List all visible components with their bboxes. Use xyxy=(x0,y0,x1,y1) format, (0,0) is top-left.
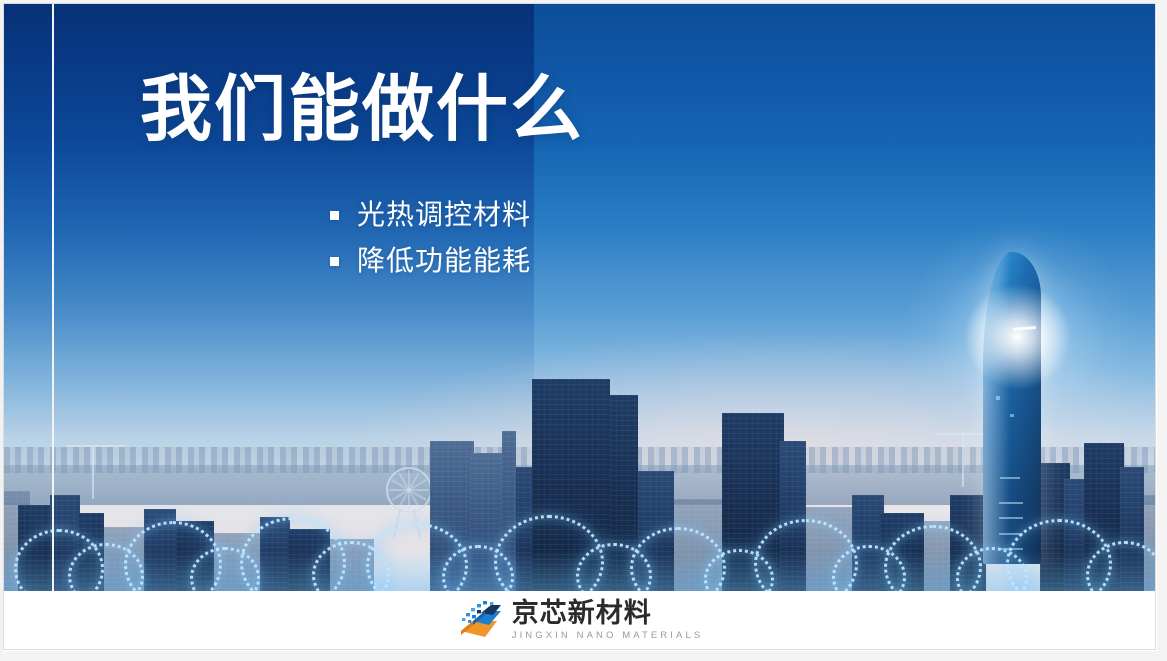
base-glow xyxy=(4,551,1156,591)
logo-name-en: JINGXIN NANO MATERIALS xyxy=(512,631,704,641)
list-item: 光热调控材料 xyxy=(330,192,531,238)
list-item-label: 降低功能能耗 xyxy=(357,238,531,284)
list-item-label: 光热调控材料 xyxy=(357,192,531,238)
curved-skyscraper xyxy=(983,252,1041,564)
slide: 我们能做什么 光热调控材料 降低功能能耗 xyxy=(0,0,1167,661)
ferris-wheel-icon xyxy=(386,467,432,513)
bullet-square-icon xyxy=(330,257,339,266)
logo-name-cn: 京芯新材料 xyxy=(512,600,704,627)
bullet-square-icon xyxy=(330,211,339,220)
jingxin-pixel-cube-logo-icon xyxy=(457,601,501,641)
tower-light-band xyxy=(1013,326,1036,331)
vertical-accent-rule xyxy=(52,4,54,591)
footer: 京芯新材料 JINGXIN NANO MATERIALS xyxy=(4,591,1156,650)
company-logo: 京芯新材料 JINGXIN NANO MATERIALS xyxy=(457,600,704,641)
logo-text: 京芯新材料 JINGXIN NANO MATERIALS xyxy=(512,600,704,641)
bullet-list: 光热调控材料 降低功能能耗 xyxy=(330,192,531,284)
page-title: 我们能做什么 xyxy=(140,74,584,146)
list-item: 降低功能能耗 xyxy=(330,238,531,284)
